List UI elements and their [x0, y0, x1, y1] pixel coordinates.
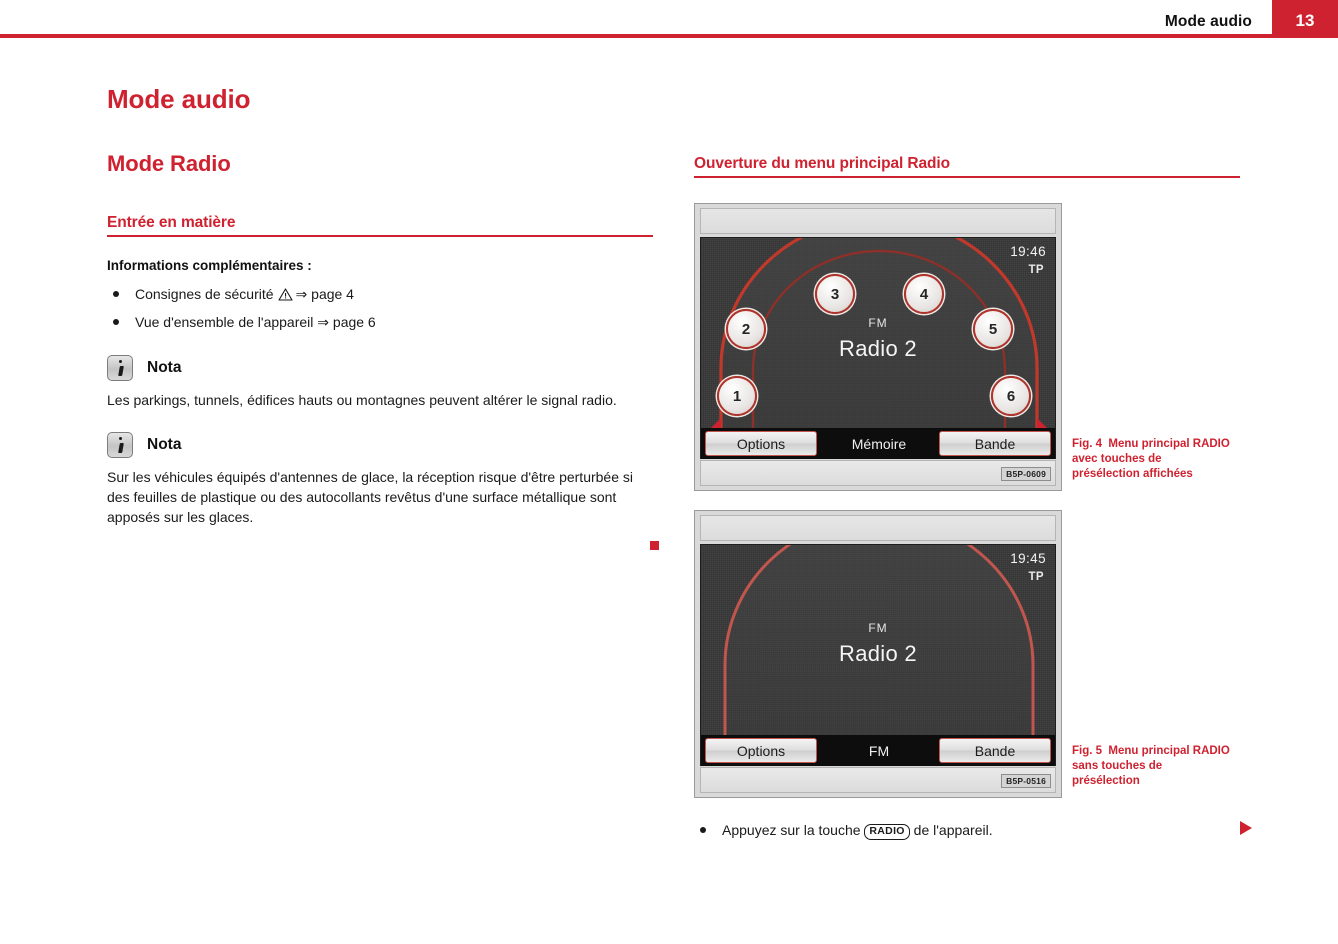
preset-button-5[interactable]: 5 — [973, 309, 1013, 349]
list-item[interactable]: Consignes de sécurité⇒ page 4 — [107, 281, 653, 309]
instruction-step-line: Appuyez sur la touche RADIO de l'apparei… — [694, 819, 1254, 841]
preset-button-1[interactable]: 1 — [717, 376, 757, 416]
radio-top-bezel — [700, 515, 1056, 541]
radio-top-bezel — [700, 208, 1056, 234]
info-icon — [107, 432, 133, 458]
instruction-text-after: de l'appareil. — [914, 822, 993, 838]
note-body: Sur les véhicules équipés d'antennes de … — [107, 467, 649, 527]
page-header: Mode audio 13 — [0, 0, 1338, 38]
page-number: 13 — [1272, 11, 1338, 31]
list-item-reference[interactable]: ⇒ page 4 — [296, 286, 354, 302]
figure-5-caption: Fig. 5 Menu principal RADIO sans touches… — [1072, 744, 1232, 789]
continue-arrow-icon — [1240, 821, 1252, 835]
figure-4-caption-number: Fig. 4 — [1072, 438, 1102, 450]
list-item-label: Vue d'ensemble de l'appareil — [135, 314, 313, 330]
preset-button-6[interactable]: 6 — [991, 376, 1031, 416]
instruction-step: Appuyez sur la touche RADIO de l'apparei… — [694, 819, 1254, 841]
softkey-options[interactable]: Options — [705, 738, 817, 763]
info-icon-stem — [118, 443, 124, 453]
additional-info-label: Informations complémentaires : — [107, 258, 653, 273]
screen-band-label: FM — [701, 621, 1055, 635]
page-title: Mode audio — [107, 84, 653, 115]
figure-4-caption: Fig. 4 Menu principal RADIO avec touches… — [1072, 437, 1232, 482]
bullet-dot-icon — [700, 827, 706, 833]
page-number-badge: 13 — [1272, 0, 1338, 38]
softkey-band[interactable]: Bande — [939, 431, 1051, 456]
instruction-text-before: Appuyez sur la touche — [722, 822, 861, 838]
bullet-dot-icon — [113, 291, 119, 297]
radio-screen: FM Radio 2 19:45 TP — [700, 544, 1056, 759]
figure-image-id: B5P-0516 — [1001, 774, 1051, 788]
subsection-title-right: Ouverture du menu principal Radio — [694, 155, 1240, 173]
list-item-reference[interactable]: ⇒ page 6 — [317, 314, 375, 330]
figure-4: FM Radio 2 19:46 TP 1 2 3 4 5 6 Options … — [694, 203, 1240, 491]
softkey-memory-label: Mémoire — [821, 431, 937, 456]
list-item-label: Consignes de sécurité — [135, 286, 274, 302]
note-header: Nota — [107, 355, 653, 381]
note-body: Les parkings, tunnels, édifices hauts ou… — [107, 390, 645, 410]
list-item[interactable]: Vue d'ensemble de l'appareil ⇒ page 6 — [107, 309, 653, 335]
note-label: Nota — [147, 359, 181, 377]
section-title: Mode Radio — [107, 151, 653, 177]
figure-image-id: B5P-0609 — [1001, 467, 1051, 481]
radio-bottom-bezel: B5P-0609 — [700, 460, 1056, 486]
preset-button-2[interactable]: 2 — [726, 309, 766, 349]
header-title: Mode audio — [1165, 13, 1252, 31]
note-header: Nota — [107, 432, 653, 458]
radio-bottom-bezel: B5P-0516 — [700, 767, 1056, 793]
info-icon-dot — [119, 437, 123, 441]
radio-screen: FM Radio 2 19:46 TP 1 2 3 4 5 6 — [700, 237, 1056, 452]
softkey-options[interactable]: Options — [705, 431, 817, 456]
preset-button-3[interactable]: 3 — [815, 274, 855, 314]
subsection-title: Entrée en matière — [107, 214, 653, 232]
info-icon — [107, 355, 133, 381]
screen-tp-indicator: TP — [1029, 571, 1045, 583]
info-icon-stem — [118, 366, 124, 376]
screen-clock: 19:45 — [1010, 551, 1046, 566]
softkey-band[interactable]: Bande — [939, 738, 1051, 763]
bullet-dot-icon — [113, 319, 119, 325]
radio-display-frame: FM Radio 2 19:46 TP 1 2 3 4 5 6 Options … — [694, 203, 1062, 491]
warning-triangle-icon — [278, 283, 293, 309]
right-column: Ouverture du menu principal Radio — [694, 155, 1240, 178]
radio-display-frame: FM Radio 2 19:45 TP Options FM Bande B5P… — [694, 510, 1062, 798]
figure-5-caption-number: Fig. 5 — [1072, 745, 1102, 757]
header-divider — [0, 34, 1272, 38]
subsection-divider-right — [694, 176, 1240, 178]
screen-clock: 19:46 — [1010, 244, 1046, 259]
radio-softkey-bar: Options FM Bande — [700, 735, 1056, 766]
figure-5: FM Radio 2 19:45 TP Options FM Bande B5P… — [694, 510, 1240, 798]
left-column: Mode audio Mode Radio Entrée en matière … — [107, 84, 653, 527]
info-icon-dot — [119, 360, 123, 364]
cross-reference-list: Consignes de sécurité⇒ page 4 Vue d'ense… — [107, 281, 653, 335]
section-end-marker — [650, 541, 659, 550]
softkey-band-label: FM — [821, 738, 937, 763]
note-label: Nota — [147, 436, 181, 454]
preset-button-4[interactable]: 4 — [904, 274, 944, 314]
screen-tp-indicator: TP — [1029, 264, 1045, 276]
radio-softkey-bar: Options Mémoire Bande — [700, 428, 1056, 459]
radio-key-label[interactable]: RADIO — [864, 824, 909, 840]
screen-station-name: Radio 2 — [701, 641, 1055, 667]
